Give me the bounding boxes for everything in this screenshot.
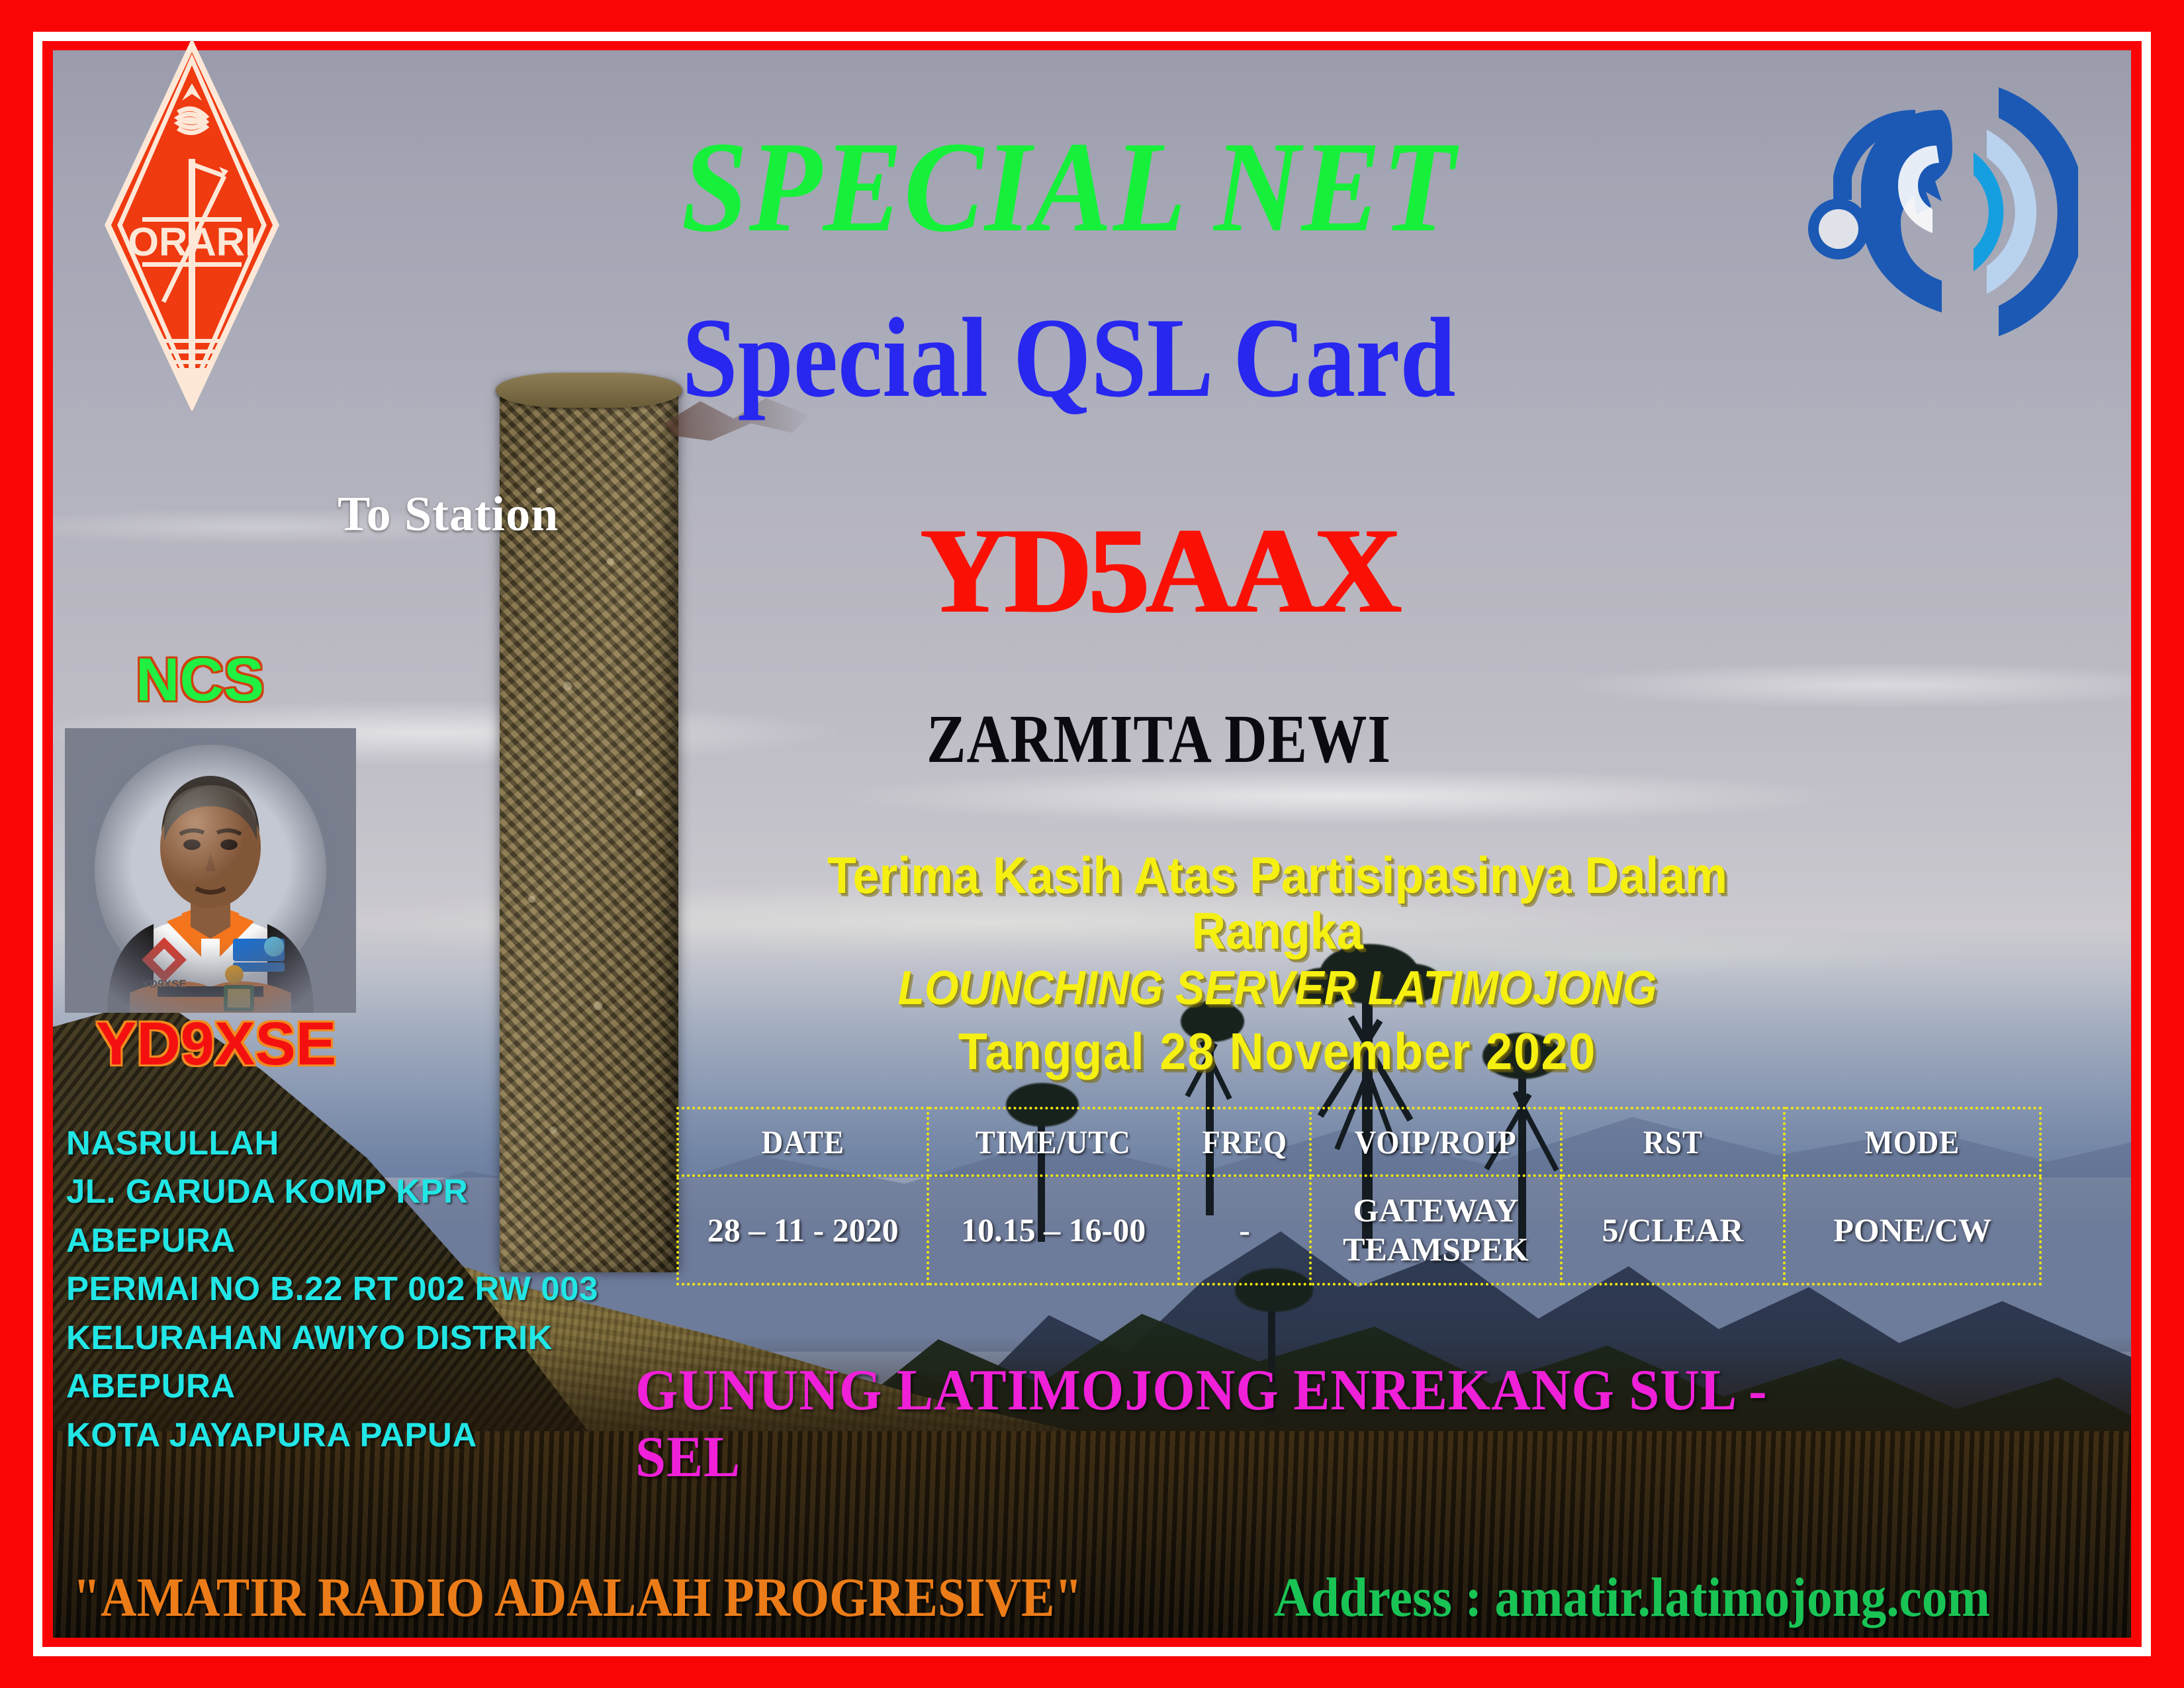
page-title-primary: SPECIAL NET bbox=[475, 122, 1662, 252]
recipient-operator-name: ZARMITA DEWI bbox=[927, 705, 1391, 774]
qso-log-table: DATE TIME/UTC FREQ VOIP/ROIP RST MODE 28… bbox=[676, 1107, 2042, 1286]
location-caption: GUNUNG LATIMOJONG ENREKANG SUL - SEL bbox=[635, 1357, 1817, 1491]
orari-logo: ORARI bbox=[103, 40, 281, 410]
photo-vignette bbox=[65, 728, 356, 1013]
qsl-card: ORARI SPECIAL NET Special QSL Card T bbox=[0, 0, 2184, 1688]
card-content: ORARI SPECIAL NET Special QSL Card T bbox=[0, 0, 2184, 1688]
to-station-label: To Station bbox=[338, 487, 559, 543]
column-header-freq: FREQ bbox=[1185, 1108, 1304, 1176]
column-header-mode: MODE bbox=[1797, 1108, 2028, 1176]
sender-address-block: NASRULLAH JL. GARUDA KOMP KPR ABEPURA PE… bbox=[66, 1119, 598, 1459]
recipient-callsign: YD5AAX bbox=[921, 510, 1634, 632]
event-line-2: LOUNCHING SERVER LATIMOJONG bbox=[760, 959, 1795, 1018]
column-header-time: TIME/UTC bbox=[940, 1108, 1166, 1176]
orari-logo-text: ORARI bbox=[128, 220, 255, 264]
address-line: ABEPURA bbox=[66, 1362, 598, 1410]
event-line-1: Terima Kasih Atas Partisipasinya Dalam R… bbox=[760, 847, 1795, 959]
ncs-callsign: YD9XSE bbox=[96, 1009, 336, 1079]
column-header-date: DATE bbox=[690, 1108, 916, 1176]
address-line: ABEPURA bbox=[66, 1216, 598, 1264]
address-line: PERMAI NO B.22 RT 002 RW 003 bbox=[66, 1264, 598, 1313]
column-header-voip-roip: VOIP/ROIP bbox=[1323, 1108, 1549, 1176]
table-header-row: DATE TIME/UTC FREQ VOIP/ROIP RST MODE bbox=[678, 1108, 2040, 1176]
address-line: KOTA JAYAPURA PAPUA bbox=[66, 1411, 598, 1459]
cell-mode: PONE/CW bbox=[1784, 1176, 2040, 1284]
cell-freq: - bbox=[1179, 1176, 1310, 1284]
event-line-3: Tanggal 28 November 2020 bbox=[760, 1018, 1795, 1085]
page-title-secondary: Special QSL Card bbox=[501, 301, 1637, 415]
address-line: KELURAHAN AWIYO DISTRIK bbox=[66, 1313, 598, 1362]
cell-date: 28 – 11 - 2020 bbox=[678, 1176, 928, 1284]
cell-time: 10.15 – 16-00 bbox=[928, 1176, 1178, 1284]
footer-slogan: "AMATIR RADIO ADALAH PROGRESIVE" bbox=[73, 1566, 1082, 1630]
event-message-block: Terima Kasih Atas Partisipasinya Dalam R… bbox=[715, 847, 1840, 1086]
ncs-operator-photo: YD9XSE bbox=[65, 728, 356, 1013]
table-row: 28 – 11 - 2020 10.15 – 16-00 - GATEWAY T… bbox=[678, 1176, 2040, 1284]
address-line: NASRULLAH bbox=[66, 1119, 598, 1167]
cell-voip-roip-line2: TEAMSPEK bbox=[1312, 1230, 1559, 1269]
address-line: JL. GARUDA KOMP KPR bbox=[66, 1167, 598, 1215]
footer-web-address: Address : amatir.latimojong.com bbox=[1274, 1566, 1990, 1630]
ncs-label: NCS bbox=[136, 645, 264, 715]
column-header-rst: RST bbox=[1572, 1108, 1774, 1176]
broadcast-headphone-logo bbox=[1800, 73, 2078, 351]
cell-voip-roip-line1: GATEWAY bbox=[1312, 1191, 1559, 1230]
cell-voip-roip: GATEWAY TEAMSPEK bbox=[1310, 1176, 1561, 1284]
cell-rst: 5/CLEAR bbox=[1561, 1176, 1785, 1284]
